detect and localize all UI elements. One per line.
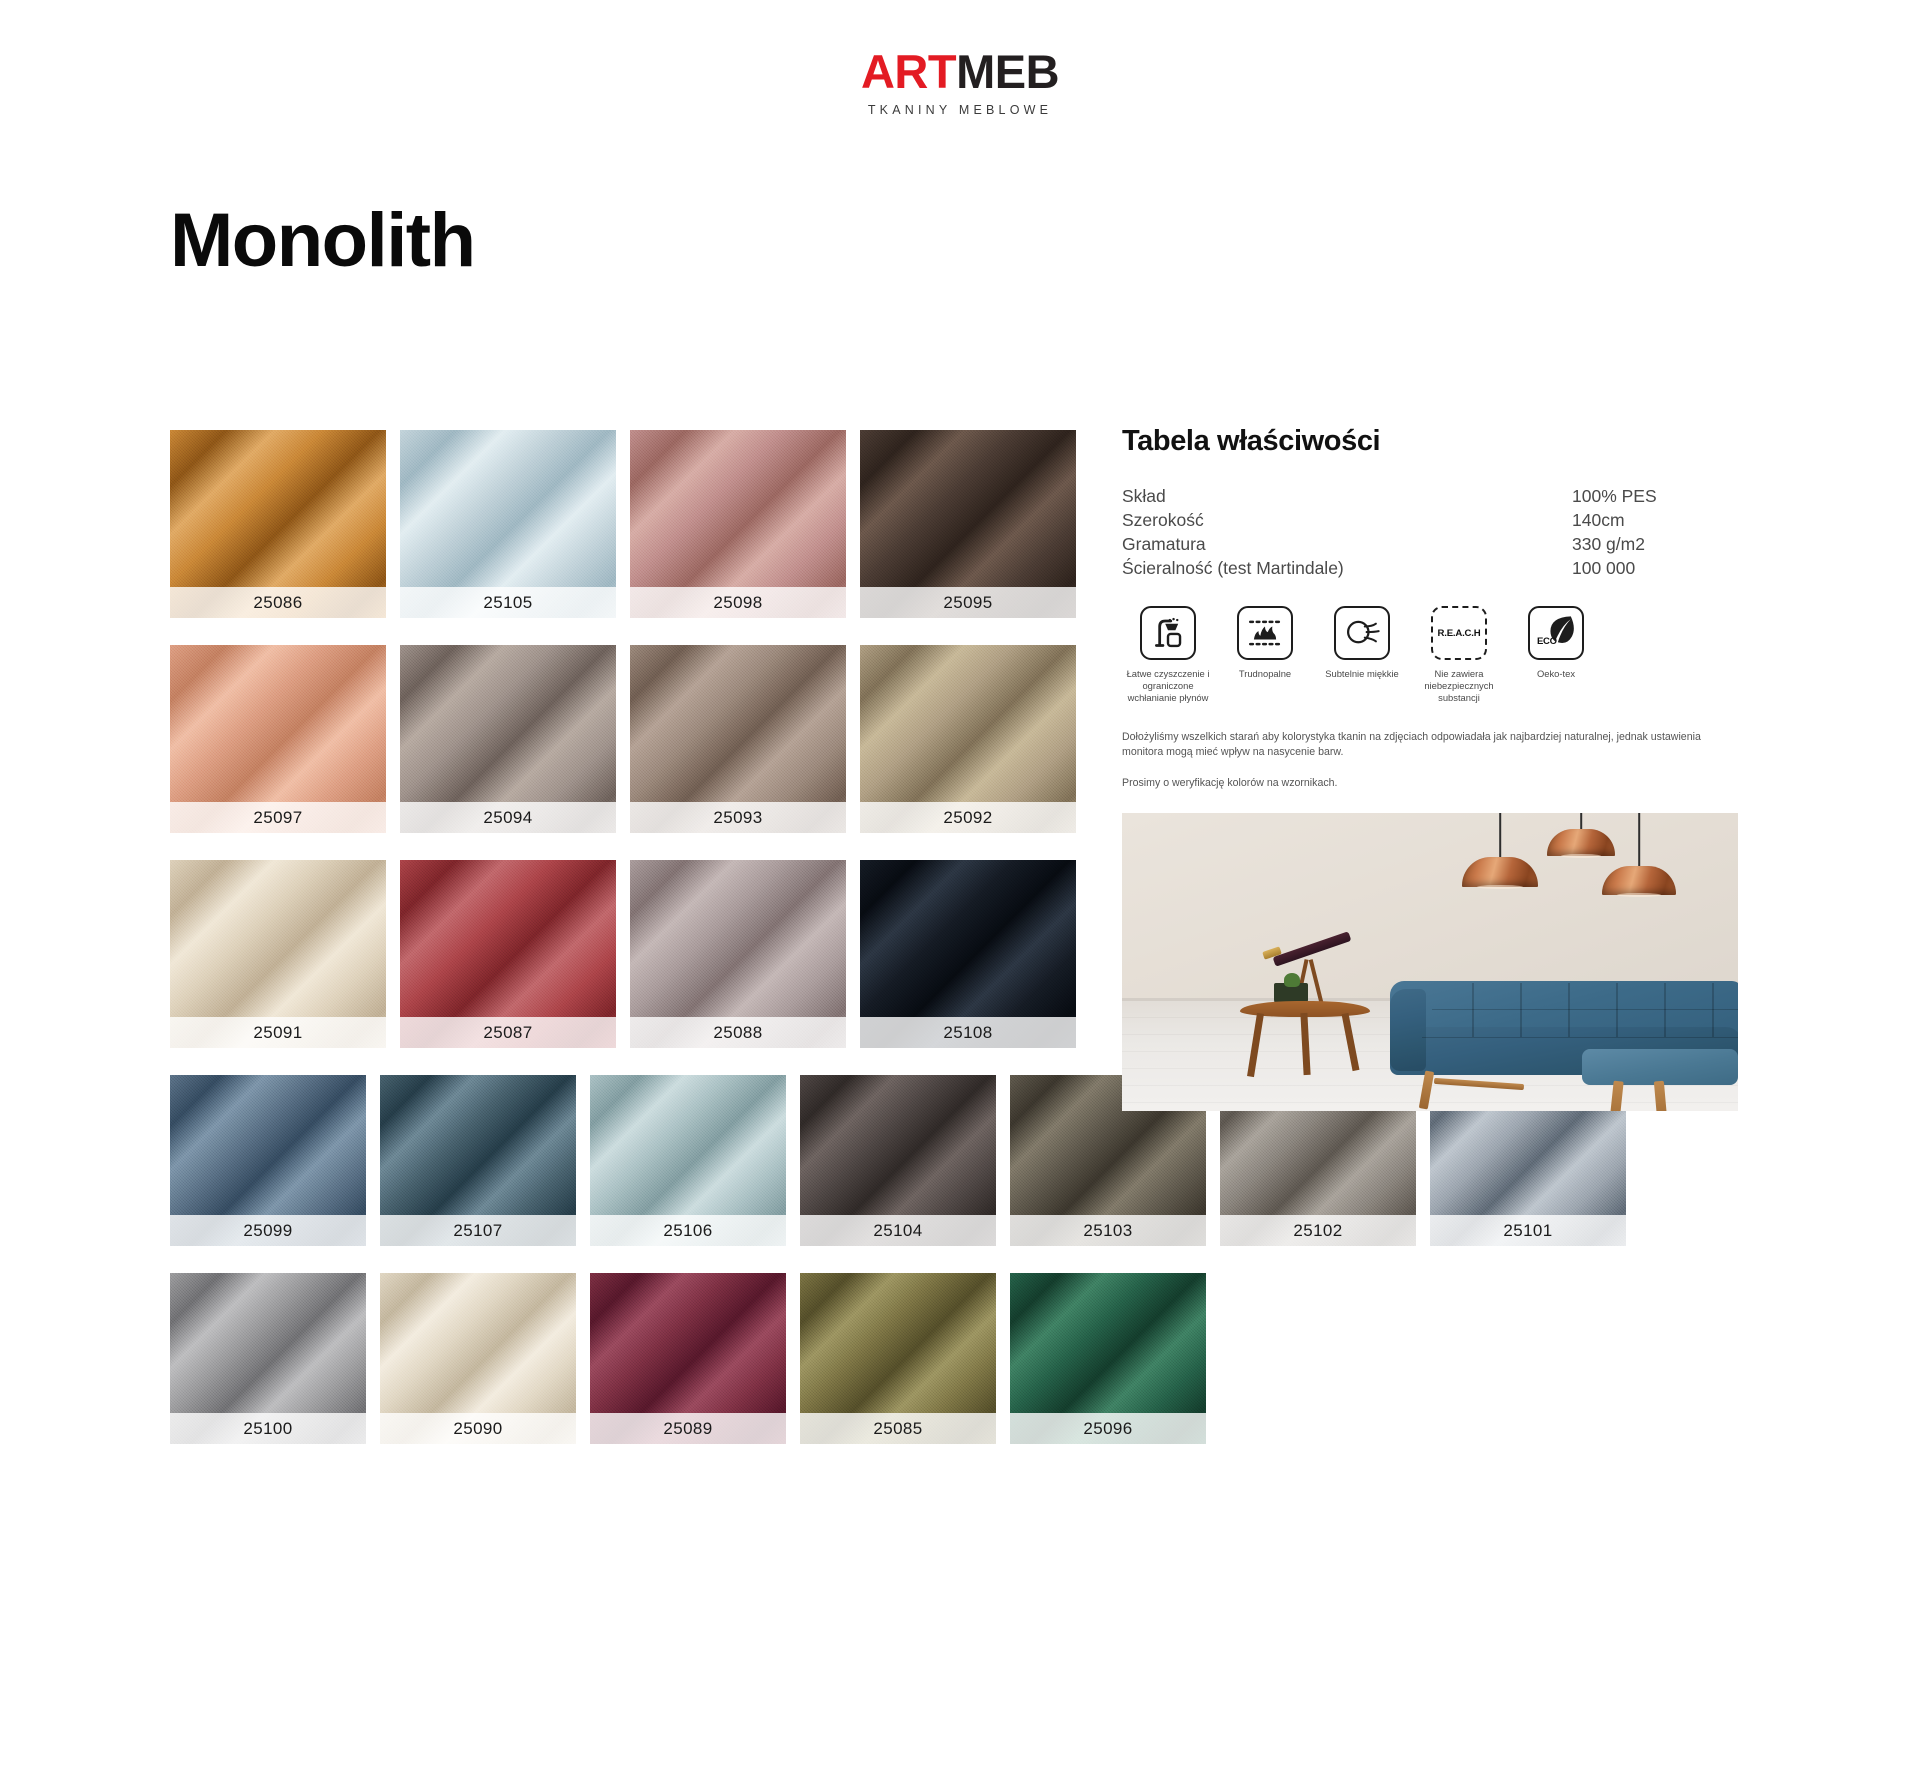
swatch-code-label: 25085: [800, 1413, 996, 1444]
swatch-code-label: 25093: [630, 802, 846, 833]
ottoman-bench: [1582, 1049, 1738, 1085]
soft-touch-icon: [1334, 606, 1390, 660]
properties-panel: Tabela właściwości Skład100% PESSzerokoś…: [1122, 425, 1742, 1111]
properties-heading: Tabela właściwości: [1122, 425, 1742, 458]
flame-retardant-icon: [1237, 606, 1293, 660]
fabric-swatch[interactable]: 25100: [170, 1273, 366, 1444]
pendant-lamp-right: [1602, 813, 1676, 905]
fabric-swatch[interactable]: 25088: [630, 860, 846, 1048]
fabric-swatch[interactable]: 25097: [170, 645, 386, 833]
fabric-swatch[interactable]: 25104: [800, 1075, 996, 1246]
swatch-code-label: 25100: [170, 1413, 366, 1444]
swatch-code-label: 25101: [1430, 1215, 1626, 1246]
fabric-swatch[interactable]: 25093: [630, 645, 846, 833]
fabric-swatch[interactable]: 25095: [860, 430, 1076, 618]
catalog-page: ARTMEB TKANINY MEBLOWE Monolith 25086251…: [0, 0, 1920, 1768]
disclaimer-paragraph-1: Dołożyliśmy wszelkich starań aby kolorys…: [1122, 730, 1737, 759]
property-value: 140cm: [1572, 508, 1682, 532]
fabric-swatch[interactable]: 25106: [590, 1075, 786, 1246]
properties-table: Skład100% PESSzerokość140cmGramatura330 …: [1122, 484, 1682, 580]
eco-leaf-icon: ECO: [1528, 606, 1584, 660]
feature-caption: Łatwe czyszczenie i ograniczone wchłania…: [1122, 668, 1214, 704]
page-title: Monolith: [170, 203, 475, 279]
pendant-lamp-left: [1462, 813, 1538, 893]
property-label: Szerokość: [1122, 508, 1204, 532]
color-disclaimer: Dołożyliśmy wszelkich starań aby kolorys…: [1122, 730, 1737, 791]
fabric-swatch[interactable]: 25087: [400, 860, 616, 1048]
swatch-code-label: 25092: [860, 802, 1076, 833]
sofa-tuft-line-v2: [1520, 983, 1522, 1037]
feature-soft-touch: Subtelnie miękkie: [1316, 606, 1408, 704]
fabric-swatch[interactable]: 25105: [400, 430, 616, 618]
property-value: 100% PES: [1572, 484, 1682, 508]
fabric-swatch[interactable]: 25094: [400, 645, 616, 833]
fabric-swatch[interactable]: 25096: [1010, 1273, 1206, 1444]
swatch-code-label: 25087: [400, 1017, 616, 1048]
fabric-swatch[interactable]: 25098: [630, 430, 846, 618]
feature-oeko-tex: ECO Oeko-tex: [1510, 606, 1602, 704]
fabric-swatch[interactable]: 25107: [380, 1075, 576, 1246]
property-row: Ścieralność (test Martindale)100 000: [1122, 556, 1682, 580]
fabric-swatch[interactable]: 25092: [860, 645, 1076, 833]
swatch-code-label: 25089: [590, 1413, 786, 1444]
swatch-code-label: 25102: [1220, 1215, 1416, 1246]
feature-caption: Nie zawiera niebezpiecznych substancji: [1413, 668, 1505, 704]
fabric-swatch[interactable]: 25090: [380, 1273, 576, 1444]
sofa-tuft-line-v5: [1664, 983, 1666, 1037]
feature-easy-clean: Łatwe czyszczenie i ograniczone wchłania…: [1122, 606, 1214, 704]
easy-clean-icon: [1140, 606, 1196, 660]
swatch-code-label: 25094: [400, 802, 616, 833]
property-label: Gramatura: [1122, 532, 1206, 556]
swatch-code-label: 25088: [630, 1017, 846, 1048]
property-row: Gramatura330 g/m2: [1122, 532, 1682, 556]
fabric-swatch[interactable]: 25091: [170, 860, 386, 1048]
fabric-swatch[interactable]: 25089: [590, 1273, 786, 1444]
fabric-swatch[interactable]: 25099: [170, 1075, 366, 1246]
eco-badge-text: ECO: [1537, 636, 1557, 647]
swatch-code-label: 25086: [170, 587, 386, 618]
disclaimer-paragraph-2: Prosimy o weryfikację kolorów na wzornik…: [1122, 776, 1737, 791]
logo-tagline: TKANINY MEBLOWE: [868, 103, 1052, 117]
property-row: Szerokość140cm: [1122, 508, 1682, 532]
sofa-tuft-line-v4: [1616, 983, 1618, 1037]
fabric-swatch[interactable]: 25085: [800, 1273, 996, 1444]
fabric-swatch[interactable]: 25108: [860, 860, 1076, 1048]
feature-reach: R.E.A.C.H Nie zawiera niebezpiecznych su…: [1413, 606, 1505, 704]
feature-flame-retardant: Trudnopalne: [1219, 606, 1311, 704]
feature-caption: Trudnopalne: [1219, 668, 1311, 680]
swatch-code-label: 25108: [860, 1017, 1076, 1048]
swatch-code-label: 25097: [170, 802, 386, 833]
property-value: 100 000: [1572, 556, 1682, 580]
brand-logo: ARTMEB TKANINY MEBLOWE: [0, 48, 1920, 117]
logo-meb-text: MEB: [956, 45, 1059, 98]
cactus: [1284, 973, 1300, 987]
sofa-tuft-line-v3: [1568, 983, 1570, 1037]
interior-photo: [1122, 813, 1738, 1111]
reach-icon: R.E.A.C.H: [1431, 606, 1487, 660]
swatch-code-label: 25105: [400, 587, 616, 618]
property-row: Skład100% PES: [1122, 484, 1682, 508]
sofa-tuft-line-h: [1432, 1009, 1738, 1011]
property-label: Ścieralność (test Martindale): [1122, 556, 1344, 580]
swatch-code-label: 25096: [1010, 1413, 1206, 1444]
feature-caption: Oeko-tex: [1510, 668, 1602, 680]
reach-badge-text: R.E.A.C.H: [1433, 608, 1485, 658]
feature-icons: Łatwe czyszczenie i ograniczone wchłania…: [1122, 606, 1742, 704]
sofa-tuft-line-h2: [1422, 1037, 1738, 1039]
sofa-tuft-line-v1: [1472, 983, 1474, 1037]
sofa-armrest: [1390, 989, 1426, 1071]
swatch-code-label: 25104: [800, 1215, 996, 1246]
fabric-swatch[interactable]: 25086: [170, 430, 386, 618]
swatch-code-label: 25099: [170, 1215, 366, 1246]
swatch-row-5: 2510025090250892508525096: [170, 1273, 1750, 1444]
swatch-code-label: 25106: [590, 1215, 786, 1246]
swatch-code-label: 25107: [380, 1215, 576, 1246]
property-label: Skład: [1122, 484, 1166, 508]
swatch-code-label: 25091: [170, 1017, 386, 1048]
swatch-code-label: 25103: [1010, 1215, 1206, 1246]
swatch-code-label: 25090: [380, 1413, 576, 1444]
logo-art-text: ART: [861, 45, 956, 98]
logo-wordmark: ARTMEB: [861, 48, 1059, 95]
swatch-code-label: 25095: [860, 587, 1076, 618]
property-value: 330 g/m2: [1572, 532, 1682, 556]
sofa-tuft-line-v6: [1712, 983, 1714, 1037]
swatch-code-label: 25098: [630, 587, 846, 618]
feature-caption: Subtelnie miękkie: [1316, 668, 1408, 680]
